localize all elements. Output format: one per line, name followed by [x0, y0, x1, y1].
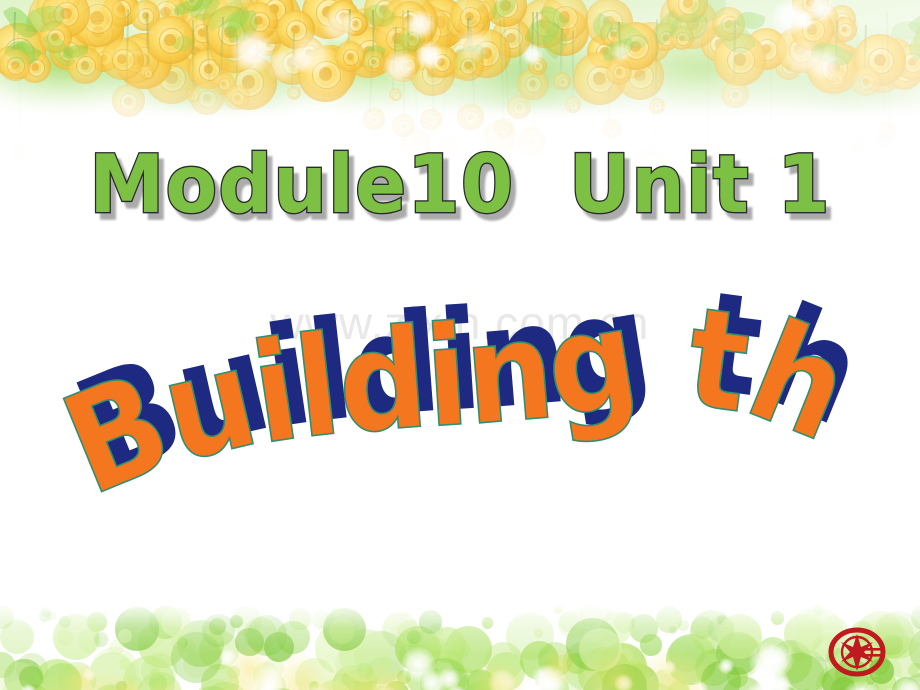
svg-text:Building the future: Building the future — [0, 190, 869, 526]
sparkle-icon — [785, 40, 822, 77]
page-title: Module10 Unit 1 — [0, 139, 920, 232]
subtitle-face-text: Building the future — [0, 190, 869, 526]
sparkle-icon — [382, 50, 416, 84]
hanging-rose-icon — [287, 86, 301, 100]
red-circular-star-emblem-icon — [828, 627, 886, 677]
bokeh-circle — [209, 618, 226, 635]
sparkle-icon — [454, 27, 490, 63]
bokeh-circle — [678, 620, 689, 631]
rose-stem — [572, 30, 574, 99]
bokeh-circle — [119, 658, 130, 669]
sparkle-icon — [792, 8, 815, 31]
bokeh-circle — [451, 639, 471, 659]
green-bokeh-border — [0, 590, 920, 690]
bokeh-circle — [312, 611, 330, 629]
bokeh-circle — [482, 617, 494, 629]
hanging-rose-icon — [602, 119, 622, 139]
bokeh-circle — [669, 626, 677, 634]
bokeh-circle — [691, 616, 714, 639]
subtitle-wordart-container: Building the future Building the future — [0, 318, 920, 568]
hanging-rose-icon — [420, 109, 441, 130]
hanging-rose-icon — [112, 84, 145, 117]
bokeh-circle — [161, 607, 191, 637]
hanging-rose-icon — [649, 98, 665, 114]
sparkle-icon — [405, 9, 435, 39]
hanging-rose-icon — [224, 85, 250, 111]
hanging-rose-icon — [721, 81, 749, 109]
sparkle-icon — [230, 29, 275, 74]
rose-stem — [707, 26, 709, 151]
hanging-rose-icon — [565, 96, 582, 113]
hanging-rose-icon — [363, 108, 385, 130]
sparkle-icon — [522, 44, 544, 66]
sparkle-icon — [611, 43, 630, 62]
bokeh-circle — [554, 605, 563, 614]
bokeh-circle — [94, 632, 109, 647]
slide-canvas: www.zixin.com.cn Module10 Unit 1 Buildin… — [0, 0, 920, 690]
hanging-rose-icon — [335, 41, 365, 71]
hanging-rose-icon — [457, 104, 484, 131]
hanging-rose-icon — [851, 66, 881, 96]
subtitle-wordart: Building the future Building the future — [0, 318, 920, 568]
organization-logo — [828, 627, 886, 677]
bokeh-warm-tint — [540, 647, 579, 686]
bokeh-circle — [53, 614, 99, 660]
bokeh-circle — [771, 611, 785, 625]
hanging-rose-icon — [190, 81, 224, 115]
